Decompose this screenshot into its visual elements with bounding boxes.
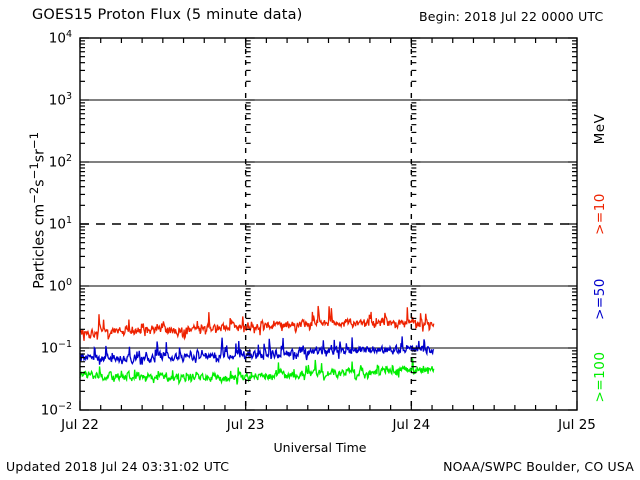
source-label: NOAA/SWPC Boulder, CO USA [443,459,634,474]
updated-label: Updated 2018 Jul 24 03:31:02 UTC [6,459,229,474]
data-series--50-MeV [80,336,434,364]
plot-canvas [0,0,640,480]
proton-flux-plot: GOES15 Proton Flux (5 minute data) Begin… [0,0,640,480]
data-series--10-MeV [80,306,434,341]
